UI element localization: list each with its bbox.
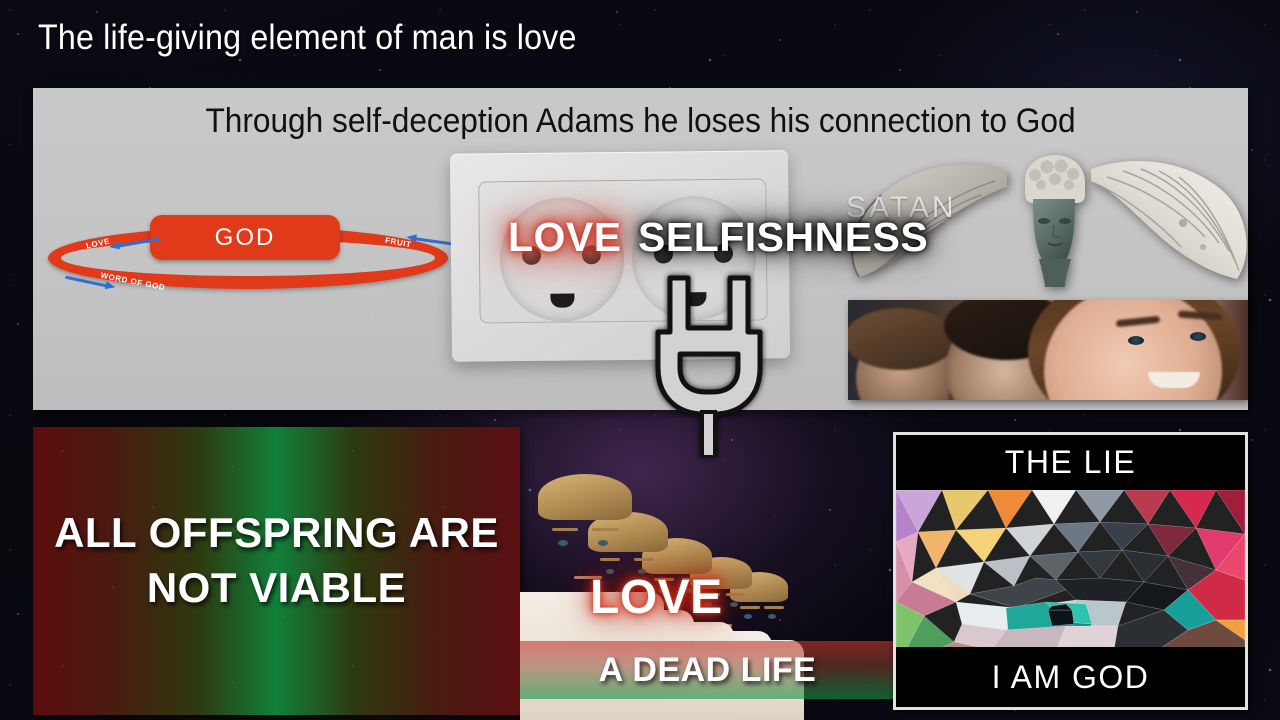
the-lie-title-bar: THE LIE — [896, 435, 1245, 490]
dead-life-band: A DEAD LIFE — [520, 641, 895, 699]
dead-life-text: A DEAD LIFE — [599, 651, 817, 690]
god-label-text: GOD — [215, 224, 276, 252]
socket-earth-contact-icon — [550, 293, 574, 307]
offspring-line-1: ALL OFFSPRING ARE — [33, 505, 520, 560]
smiling-people-photo — [848, 300, 1248, 400]
offspring-line-2: NOT VIABLE — [33, 560, 520, 615]
angel-right-wing-icon — [1083, 151, 1251, 287]
photo-eye — [1128, 336, 1144, 345]
love-word-clones-overlay: LOVE — [590, 570, 723, 625]
the-lie-title: THE LIE — [1005, 444, 1136, 481]
photo-eye — [1190, 332, 1206, 341]
the-lie-card: THE LIE — [893, 432, 1248, 710]
offspring-message: ALL OFFSPRING ARE NOT VIABLE — [33, 505, 520, 616]
panel-subtitle: Through self-deception Adams he loses hi… — [76, 102, 1206, 141]
selfishness-word-overlay: SELFISHNESS — [638, 214, 928, 261]
i-am-god-text: I AM GOD — [992, 659, 1150, 696]
love-word-overlay: LOVE — [508, 214, 622, 261]
god-label-box: GOD — [150, 215, 340, 260]
slide-title: The life-giving element of man is love — [38, 18, 577, 58]
low-poly-eye-artwork — [896, 490, 1245, 653]
i-am-god-bar: I AM GOD — [896, 647, 1245, 707]
offspring-card: ALL OFFSPRING ARE NOT VIABLE — [33, 427, 520, 715]
god-cycle-diagram: GOD LOVE FRUIT WORD OF GOD — [40, 205, 460, 310]
statue-head-icon — [1015, 155, 1093, 287]
photo-hair-left — [848, 308, 956, 370]
slide-canvas: The life-giving element of man is love T… — [0, 0, 1280, 720]
photo-smile — [1148, 372, 1200, 388]
